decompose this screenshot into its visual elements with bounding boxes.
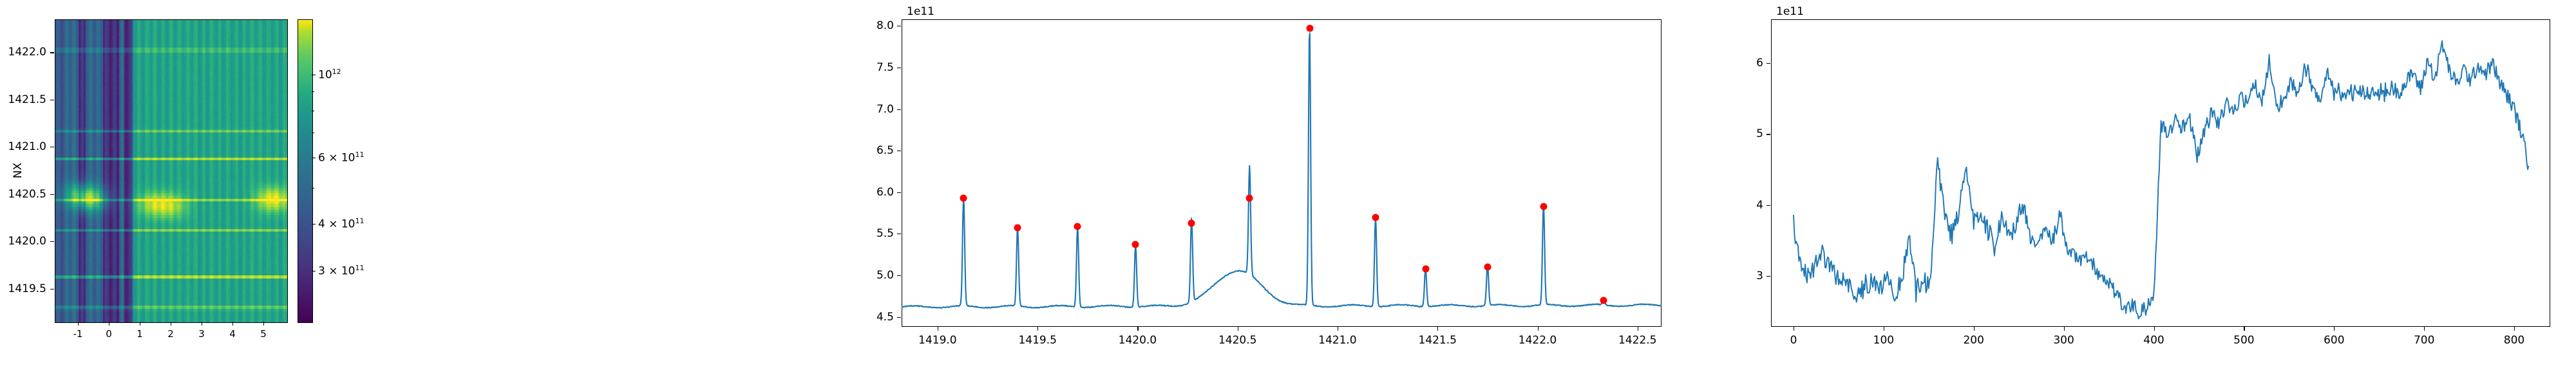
panel3-xtick-label: 100 bbox=[1858, 334, 1909, 347]
panel3-y-offset-text: 1e11 bbox=[1776, 5, 1804, 18]
panel1-xtick-mark bbox=[263, 322, 264, 326]
panel2-xtick-label: 1421.0 bbox=[1309, 334, 1367, 347]
figure-canvas: 1422.01421.51421.01420.51420.01419.5 -10… bbox=[0, 0, 2576, 386]
panel1-xtick-mark bbox=[109, 322, 109, 326]
panel1-ytick-mark bbox=[50, 194, 54, 195]
panel2-y-offset-text: 1e11 bbox=[907, 5, 934, 18]
panel2-xtick-label: 1421.5 bbox=[1408, 334, 1466, 347]
peak-marker-dot bbox=[1600, 297, 1607, 304]
panel2-xtick-mark bbox=[1338, 327, 1338, 331]
peak-marker-dot bbox=[1484, 264, 1491, 271]
panel1-ytick-mark bbox=[50, 100, 54, 100]
panel3-xtick-label: 600 bbox=[2308, 334, 2360, 347]
peak-marker-dot bbox=[1246, 194, 1253, 201]
panel3-ytick-mark bbox=[1766, 63, 1770, 64]
panel3-xtick-mark bbox=[1974, 327, 1975, 331]
colorbar-tick-mark bbox=[312, 224, 316, 225]
panel-timeseries: 1e11 3456 0100200300400500600700800 bbox=[1732, 0, 2576, 386]
panel3-xtick-label: 200 bbox=[1948, 334, 2000, 347]
panel1-ytick-mark bbox=[50, 52, 54, 53]
panel3-xtick-mark bbox=[2154, 327, 2155, 331]
panel1-xtick-mark bbox=[232, 322, 233, 326]
panel3-xtick-mark bbox=[2334, 327, 2334, 331]
peak-marker-dot bbox=[1188, 219, 1195, 226]
peak-marker-dot bbox=[1306, 25, 1313, 32]
panel2-xtick-label: 1419.0 bbox=[909, 334, 967, 347]
panel2-line-series bbox=[902, 19, 1662, 327]
panel2-ytick-mark bbox=[897, 317, 901, 318]
panel1-xtick-mark bbox=[202, 322, 202, 326]
peak-marker-dot bbox=[1074, 223, 1081, 230]
panel2-ytick-label: 6.0 bbox=[857, 186, 894, 199]
colorbar-tick-mark bbox=[312, 271, 316, 271]
peak-marker-dot bbox=[1014, 225, 1021, 232]
panel2-xtick-label: 1420.0 bbox=[1108, 334, 1166, 347]
panel3-xtick-label: 400 bbox=[2128, 334, 2180, 347]
panel2-ytick-mark bbox=[897, 109, 901, 110]
panel3-plot-area bbox=[1771, 19, 2550, 327]
panel3-ytick-label: 3 bbox=[1739, 270, 1763, 282]
heatmap-image bbox=[55, 19, 288, 323]
panel3-xtick-mark bbox=[2064, 327, 2065, 331]
colorbar-tick-mark bbox=[312, 75, 316, 75]
panel3-ytick-label: 5 bbox=[1739, 127, 1763, 140]
colorbar-minor-tick bbox=[312, 91, 314, 92]
panel2-ytick-mark bbox=[897, 275, 901, 276]
colorbar-tick-label: 6 × 1011 bbox=[318, 151, 365, 165]
panel3-xtick-mark bbox=[1794, 327, 1794, 331]
colorbar-tick-label: 4 × 1011 bbox=[318, 217, 365, 231]
panel2-ytick-mark bbox=[897, 151, 901, 151]
peak-marker-dot bbox=[1372, 214, 1379, 221]
colorbar-tick-mark bbox=[312, 158, 316, 158]
panel3-ytick-mark bbox=[1766, 205, 1770, 206]
panel2-ytick-mark bbox=[897, 68, 901, 68]
panel1-ytick-mark bbox=[50, 241, 54, 242]
panel3-xtick-mark bbox=[2514, 327, 2515, 331]
colorbar-tick-label: 3 × 1011 bbox=[318, 264, 365, 278]
panel3-xtick-label: 800 bbox=[2488, 334, 2540, 347]
panel2-xtick-mark bbox=[1437, 327, 1438, 331]
panel1-xtick-mark bbox=[78, 322, 79, 326]
panel1-ytick-label: 1421.5 bbox=[5, 93, 46, 106]
panel1-ytick-label: 1420.0 bbox=[5, 235, 46, 248]
panel2-plot-area bbox=[902, 19, 1662, 327]
panel1-y-axis-label: NX bbox=[12, 151, 24, 190]
panel2-ytick-label: 7.0 bbox=[857, 103, 894, 116]
panel2-xtick-label: 1422.5 bbox=[1609, 334, 1667, 347]
panel3-line-series bbox=[1771, 19, 2550, 327]
panel3-xtick-mark bbox=[2424, 327, 2425, 331]
panel1-ytick-label: 1422.0 bbox=[5, 46, 46, 59]
peak-marker-dot bbox=[1540, 203, 1547, 210]
colorbar-tick-label: 1012 bbox=[318, 68, 341, 82]
panel1-xtick-mark bbox=[140, 322, 140, 326]
panel1-ytick-mark bbox=[50, 147, 54, 147]
colorbar-minor-tick bbox=[312, 133, 314, 133]
panel3-ytick-mark bbox=[1766, 276, 1770, 277]
panel2-xtick-mark bbox=[1238, 327, 1238, 331]
panel1-ytick-label: 1419.5 bbox=[5, 282, 46, 295]
panel1-ytick-mark bbox=[50, 289, 54, 289]
panel1-xtick-label: 5 bbox=[244, 328, 283, 340]
panel2-xtick-label: 1419.5 bbox=[1009, 334, 1066, 347]
panel3-xtick-label: 700 bbox=[2398, 334, 2450, 347]
panel2-xtick-mark bbox=[1137, 327, 1138, 331]
colorbar-minor-tick bbox=[312, 111, 314, 111]
panel2-ytick-label: 5.5 bbox=[857, 227, 894, 240]
panel-waterfall-heatmap: 1422.01421.51421.01420.51420.01419.5 -10… bbox=[0, 0, 335, 386]
colorbar bbox=[298, 19, 313, 323]
panel3-xtick-label: 500 bbox=[2218, 334, 2269, 347]
panel2-ytick-label: 7.5 bbox=[857, 61, 894, 74]
panel3-ytick-mark bbox=[1766, 134, 1770, 134]
peak-marker-dot bbox=[1132, 241, 1139, 248]
panel2-ytick-label: 6.5 bbox=[857, 144, 894, 157]
panel3-xtick-label: 300 bbox=[2038, 334, 2090, 347]
panel3-xtick-label: 0 bbox=[1768, 334, 1819, 347]
panel3-ytick-label: 6 bbox=[1739, 57, 1763, 69]
peak-marker-dot bbox=[960, 194, 967, 201]
panel2-ytick-label: 8.0 bbox=[857, 19, 894, 32]
panel2-ytick-mark bbox=[897, 26, 901, 26]
panel2-xtick-mark bbox=[938, 327, 938, 331]
panel3-ytick-label: 4 bbox=[1739, 199, 1763, 212]
panel-peak-spectrum: 1e11 4.55.05.56.06.57.07.58.0 1419.01419… bbox=[857, 0, 1687, 386]
panel2-xtick-mark bbox=[1638, 327, 1638, 331]
panel2-ytick-label: 5.0 bbox=[857, 269, 894, 282]
panel2-ytick-mark bbox=[897, 192, 901, 193]
panel3-xtick-mark bbox=[1884, 327, 1884, 331]
panel2-xtick-mark bbox=[1538, 327, 1539, 331]
peak-marker-dot bbox=[1422, 265, 1429, 272]
panel2-ytick-mark bbox=[897, 234, 901, 234]
panel1-xtick-mark bbox=[171, 322, 171, 326]
panel2-xtick-label: 1422.0 bbox=[1509, 334, 1567, 347]
panel2-xtick-mark bbox=[1037, 327, 1038, 331]
colorbar-minor-tick bbox=[312, 188, 314, 188]
panel2-xtick-label: 1420.5 bbox=[1209, 334, 1267, 347]
panel3-xtick-mark bbox=[2244, 327, 2244, 331]
panel2-ytick-label: 4.5 bbox=[857, 311, 894, 324]
